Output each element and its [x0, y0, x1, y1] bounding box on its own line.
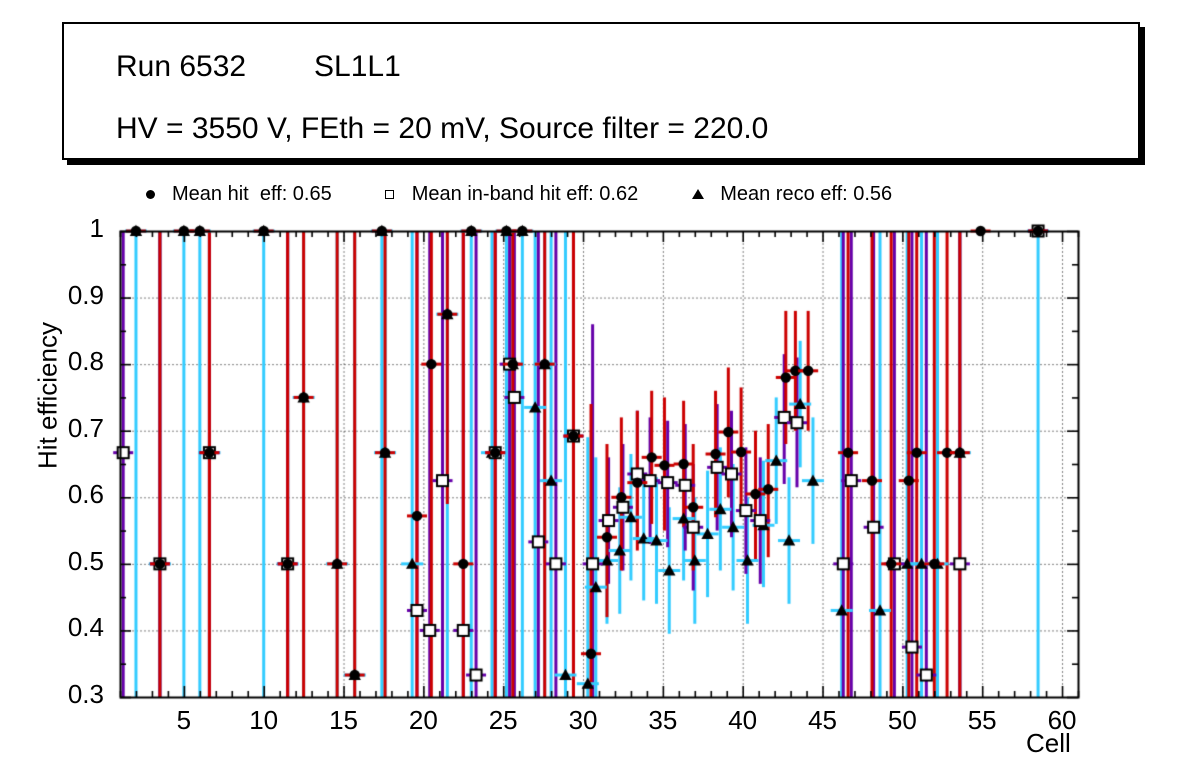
y-tick-0.3: 0.3 — [34, 679, 104, 710]
legend-label-reco-eff: Mean reco eff: 0.56 — [720, 183, 892, 206]
filled-triangle-icon — [676, 189, 720, 199]
title-box: Run 6532 SL1L1 HV = 3550 V, FEth = 20 mV… — [62, 22, 1140, 160]
y-tick-0.8: 0.8 — [34, 346, 104, 377]
y-tick-0.5: 0.5 — [34, 546, 104, 577]
x-tick-60: 60 — [1032, 705, 1092, 736]
x-tick-30: 30 — [553, 705, 613, 736]
legend-label-inband-eff: Mean in-band hit eff: 0.62 — [412, 183, 638, 206]
legend-entry-hit-eff: Mean hit eff: 0.65 — [128, 183, 332, 206]
y-tick-0.6: 0.6 — [34, 479, 104, 510]
x-tick-10: 10 — [234, 705, 294, 736]
y-axis-label: Hit efficiency — [33, 286, 64, 506]
filled-circle-icon — [128, 190, 172, 199]
x-tick-50: 50 — [872, 705, 932, 736]
open-square-icon — [368, 190, 412, 199]
settings-label: HV = 3550 V, FEth = 20 mV, Source filter… — [116, 112, 768, 146]
y-tick-0.7: 0.7 — [34, 413, 104, 444]
chamber-label: SL1L1 — [314, 50, 401, 84]
x-tick-5: 5 — [154, 705, 214, 736]
legend: Mean hit eff: 0.65 Mean in-band hit eff:… — [120, 176, 1030, 212]
x-tick-15: 15 — [314, 705, 374, 736]
x-tick-25: 25 — [473, 705, 533, 736]
y-tick-0.4: 0.4 — [34, 612, 104, 643]
legend-entry-reco-eff: Mean reco eff: 0.56 — [676, 183, 892, 206]
run-label: Run 6532 — [116, 50, 246, 84]
legend-entry-inband-eff: Mean in-band hit eff: 0.62 — [368, 183, 638, 206]
y-tick-0.9: 0.9 — [34, 280, 104, 311]
y-tick-1: 1 — [34, 213, 104, 244]
x-tick-45: 45 — [793, 705, 853, 736]
x-tick-55: 55 — [952, 705, 1012, 736]
x-tick-35: 35 — [633, 705, 693, 736]
x-tick-40: 40 — [713, 705, 773, 736]
x-tick-20: 20 — [393, 705, 453, 736]
legend-label-hit-eff: Mean hit eff: 0.65 — [172, 183, 332, 206]
